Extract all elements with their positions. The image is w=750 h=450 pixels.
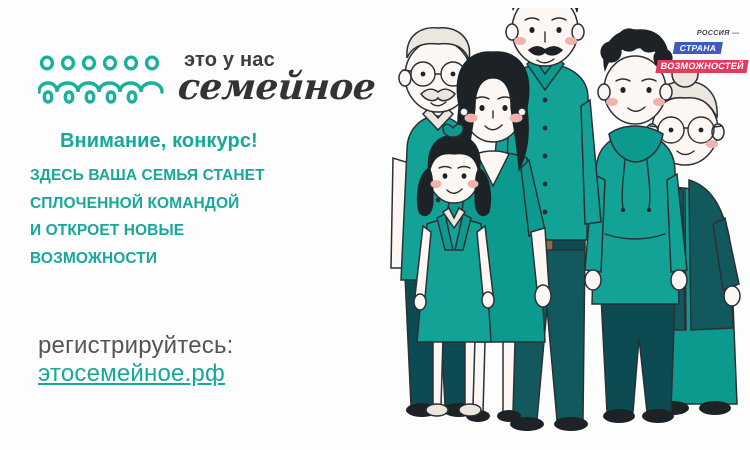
body-line: СПЛОЧЕННОЙ КОМАНДОЙ bbox=[30, 196, 370, 212]
family-of-six-illustration: .sk{fill:#fdf7f3;stroke:#2b3036;stroke-w… bbox=[385, 8, 750, 450]
body-line: ВОЗМОЖНОСТИ bbox=[30, 251, 370, 267]
brand-wordmark: это у нас семейное bbox=[178, 50, 375, 104]
body-line: И ОТКРОЕТ НОВЫЕ bbox=[30, 223, 370, 239]
registration-block: регистрируйтесь: этосемейное.рф bbox=[38, 332, 234, 389]
figure-son bbox=[585, 29, 687, 423]
badge-line-strana: СТРАНА bbox=[673, 42, 723, 54]
badge-line-vozmozhnostey: ВОЗМОЖНОСТЕЙ bbox=[655, 60, 748, 73]
register-label: регистрируйтесь: bbox=[38, 332, 234, 360]
rossiya-strana-vozmozhnostey-logo[interactable]: РОССИЯ — СТРАНА ВОЗМОЖНОСТЕЙ bbox=[657, 29, 743, 65]
brand-name: семейное bbox=[177, 71, 377, 104]
attention-headline: Внимание, конкурс! bbox=[60, 130, 258, 153]
badge-line-rossiya: РОССИЯ — bbox=[662, 29, 743, 36]
registration-link[interactable]: этосемейное.рф bbox=[38, 360, 225, 388]
family-chain-logo-icon bbox=[38, 54, 166, 106]
body-line: ЗДЕСЬ ВАША СЕМЬЯ СТАНЕТ bbox=[30, 168, 370, 184]
body-copy: ЗДЕСЬ ВАША СЕМЬЯ СТАНЕТ СПЛОЧЕННОЙ КОМАН… bbox=[30, 168, 370, 278]
promo-poster: это у нас семейное Внимание, конкурс! ЗД… bbox=[0, 0, 750, 450]
left-content-column: это у нас семейное Внимание, конкурс! ЗД… bbox=[0, 0, 400, 450]
brand-logo[interactable]: это у нас семейное bbox=[38, 52, 375, 106]
